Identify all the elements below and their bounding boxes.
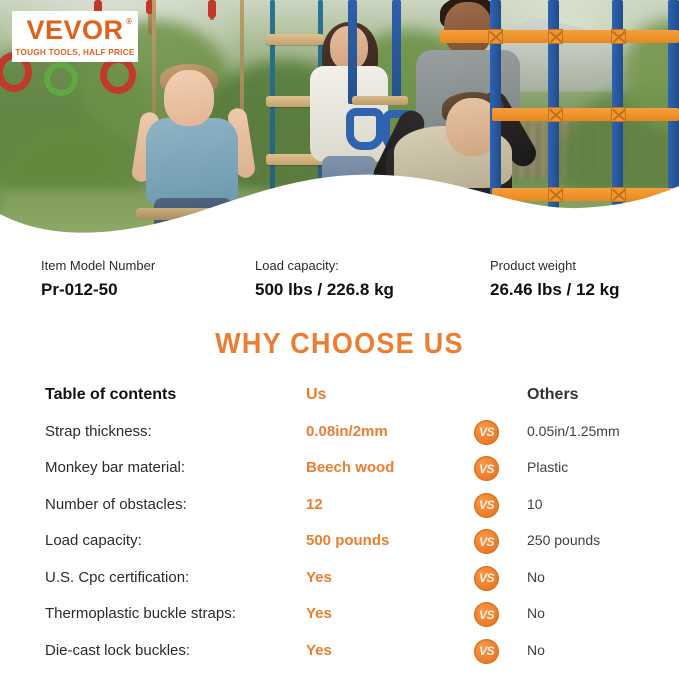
- row-label: U.S. Cpc certification:: [45, 569, 189, 586]
- vs-badge-icon: VS: [474, 493, 499, 518]
- row-us-value: 12: [306, 496, 323, 513]
- rope-knot: [208, 0, 216, 18]
- vs-badge-label: VS: [479, 644, 494, 658]
- logo-text: VEVOR: [26, 15, 123, 45]
- row-us-value: Yes: [306, 642, 332, 659]
- row-others-value: 0.05in/1.25mm: [527, 423, 620, 439]
- vs-badge-label: VS: [479, 535, 494, 549]
- vs-badge-label: VS: [479, 608, 494, 622]
- vs-badge-label: VS: [479, 571, 494, 585]
- gym-ring-strap: [348, 0, 357, 104]
- row-us-value: 0.08in/2mm: [306, 423, 388, 440]
- table-row: Die-cast lock buckles: Yes VS No: [0, 642, 679, 678]
- wave-divider: [0, 162, 679, 252]
- vs-badge-label: VS: [479, 498, 494, 512]
- logo-wordmark: VEVOR®: [26, 17, 123, 44]
- vs-badge-label: VS: [479, 462, 494, 476]
- product-specs: Item Model Number Pr-012-50 Load capacit…: [0, 258, 679, 310]
- row-others-value: No: [527, 605, 545, 621]
- row-others-value: No: [527, 569, 545, 585]
- registered-trademark-icon: ®: [126, 18, 132, 26]
- spec-product-weight: Product weight 26.46 lbs / 12 kg: [490, 258, 619, 300]
- table-row: Load capacity: 500 pounds VS 250 pounds: [0, 532, 679, 569]
- spec-label: Load capacity:: [255, 258, 394, 274]
- vs-badge-icon: VS: [474, 456, 499, 481]
- column-header-us: Us: [306, 386, 326, 404]
- vs-badge-icon: VS: [474, 639, 499, 664]
- vs-badge-icon: VS: [474, 566, 499, 591]
- vs-badge-icon: VS: [474, 529, 499, 554]
- spec-value: 500 lbs / 226.8 kg: [255, 280, 394, 300]
- vs-badge-icon: VS: [474, 602, 499, 627]
- comparison-table: Table of contents Us Others Strap thickn…: [0, 386, 679, 678]
- row-us-value: Yes: [306, 569, 332, 586]
- spec-value: 26.46 lbs / 12 kg: [490, 280, 619, 300]
- row-label: Number of obstacles:: [45, 496, 187, 513]
- spec-value: Pr-012-50: [41, 280, 155, 300]
- climbing-ring-green: [44, 62, 78, 96]
- row-us-value: Beech wood: [306, 459, 394, 476]
- spec-label: Product weight: [490, 258, 619, 274]
- child-head: [164, 70, 214, 126]
- table-header-row: Table of contents Us Others: [0, 386, 679, 423]
- row-us-value: Yes: [306, 605, 332, 622]
- net-strap-joint: [548, 29, 563, 44]
- net-strap-joint: [611, 29, 626, 44]
- table-row: Monkey bar material: Beech wood VS Plast…: [0, 459, 679, 496]
- row-others-value: Plastic: [527, 459, 568, 475]
- vevor-logo: VEVOR® TOUGH TOOLS, HALF PRICE: [12, 11, 138, 62]
- man-head: [444, 2, 492, 56]
- spec-item-model-number: Item Model Number Pr-012-50: [41, 258, 155, 300]
- vs-badge-icon: VS: [474, 420, 499, 445]
- column-header-contents: Table of contents: [45, 386, 176, 404]
- net-strap-joint: [548, 107, 563, 122]
- row-others-value: 250 pounds: [527, 532, 600, 548]
- row-label: Strap thickness:: [45, 423, 152, 440]
- row-label: Load capacity:: [45, 532, 142, 549]
- gym-ring: [346, 108, 384, 150]
- table-row: Thermoplastic buckle straps: Yes VS No: [0, 605, 679, 642]
- logo-tagline: TOUGH TOOLS, HALF PRICE: [15, 48, 134, 57]
- table-row: Strap thickness: 0.08in/2mm VS 0.05in/1.…: [0, 423, 679, 460]
- spec-label: Item Model Number: [41, 258, 155, 274]
- vs-badge-label: VS: [479, 425, 494, 439]
- table-row: Number of obstacles: 12 VS 10: [0, 496, 679, 533]
- row-label: Thermoplastic buckle straps:: [45, 605, 236, 622]
- row-others-value: No: [527, 642, 545, 658]
- row-us-value: 500 pounds: [306, 532, 389, 549]
- row-label: Monkey bar material:: [45, 459, 185, 476]
- net-strap-joint: [611, 107, 626, 122]
- section-heading-why-choose-us: WHY CHOOSE US: [24, 328, 655, 361]
- net-strap: [492, 108, 679, 121]
- net-strap-joint: [488, 29, 503, 44]
- spec-load-capacity: Load capacity: 500 lbs / 226.8 kg: [255, 258, 394, 300]
- column-header-others: Others: [527, 386, 579, 404]
- table-row: U.S. Cpc certification: Yes VS No: [0, 569, 679, 606]
- row-label: Die-cast lock buckles:: [45, 642, 190, 659]
- row-others-value: 10: [527, 496, 543, 512]
